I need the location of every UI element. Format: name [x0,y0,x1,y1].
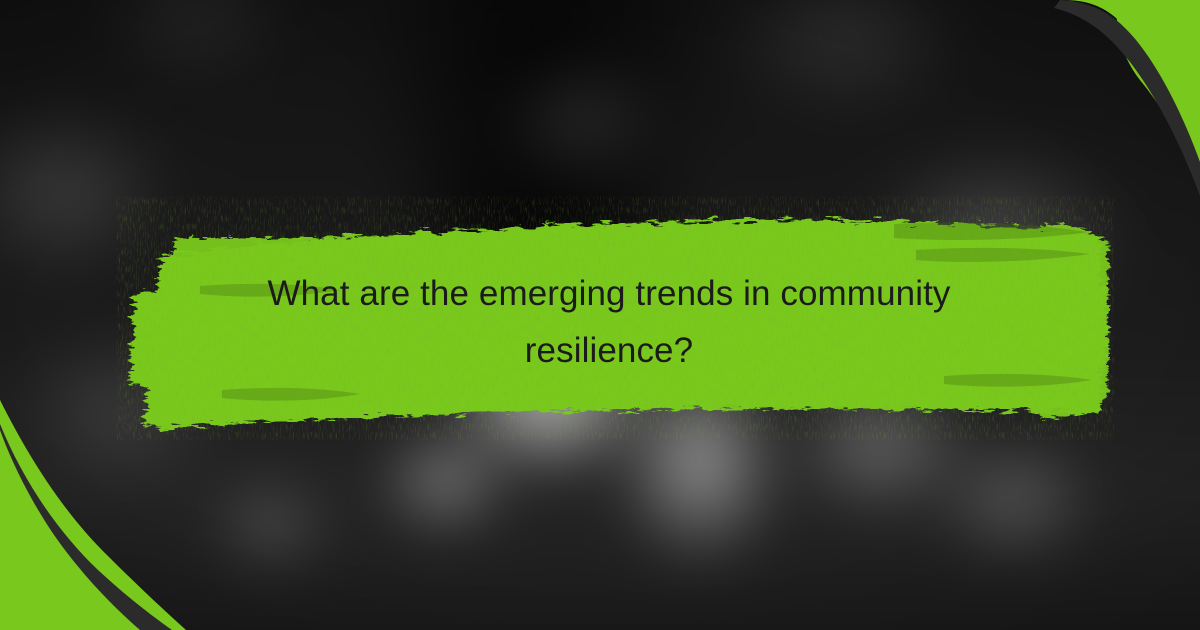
question-card: What are the emerging trends in communit… [0,0,1200,630]
question-line-2: resilience? [525,322,693,379]
question-highlight-band: What are the emerging trends in communit… [104,190,1114,440]
question-text-block: What are the emerging trends in communit… [104,190,1114,440]
question-line-1: What are the emerging trends in communit… [267,265,950,322]
